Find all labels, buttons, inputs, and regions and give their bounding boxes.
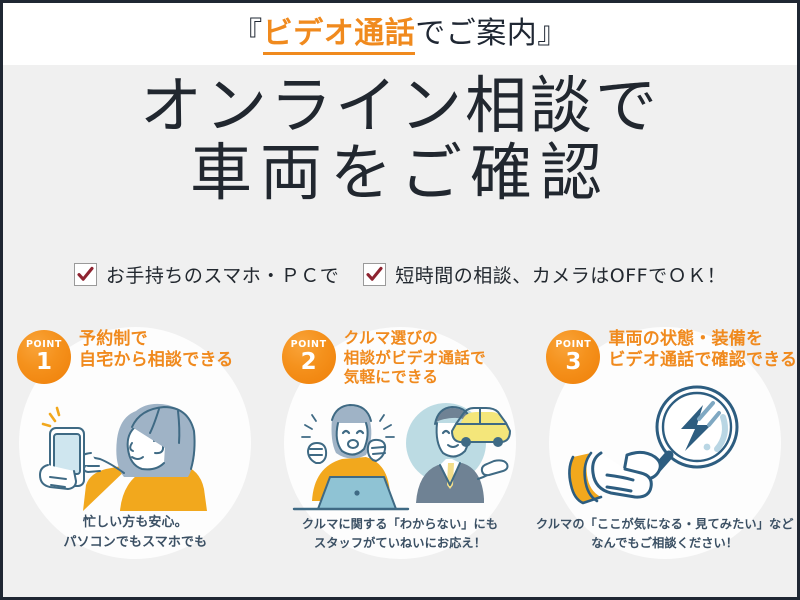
point-caption-1-line-1: 忙しい方も安心。 <box>3 513 268 533</box>
point-badge-2: POINT 2 <box>282 330 336 384</box>
point-title-3: 車両の状態・装備を ビデオ通話で確認できる <box>608 329 797 372</box>
header-plain-text: でご案内 <box>415 16 537 51</box>
woman-with-smartphone-illustration <box>3 381 268 511</box>
headline-line-2: 車両をご確認 <box>3 140 797 207</box>
header-highlight-text: ビデオ通話 <box>263 16 416 55</box>
point-caption-3: クルマの「ここが気になる・見てみたい」など なんでもご相談ください！ <box>532 515 797 552</box>
point-caption-2-line-1: クルマに関する「わからない」にも <box>268 515 533 533</box>
point-header-2: POINT 2 クルマ選びの 相談がビデオ通話で 気軽にできる <box>268 329 533 388</box>
point-title-2-line-3: 気軽にできる <box>344 368 486 388</box>
point-card-2: POINT 2 クルマ選びの 相談がビデオ通話で 気軽にできる <box>268 321 533 600</box>
checkmark-icon <box>363 263 386 286</box>
woman-laptop-and-staff-with-car-illustration <box>268 393 533 511</box>
header-title: 『ビデオ通話でご案内』 <box>232 19 568 49</box>
bracket-close: 』 <box>537 16 568 51</box>
check-item-2: 短時間の相談、カメラはOFFでＯＫ！ <box>363 261 726 288</box>
headline-line-1: オンライン相談で <box>3 73 797 140</box>
main-headline: オンライン相談で 車両をご確認 <box>3 73 797 207</box>
feature-check-row: お手持ちのスマホ・ＰＣで 短時間の相談、カメラはOFFでＯＫ！ <box>3 261 797 288</box>
point-title-1: 予約制で 自宅から相談できる <box>79 329 233 372</box>
point-caption-1-line-2: パソコンでもスマホでも <box>3 533 268 553</box>
point-caption-2-line-2: スタッフがていねいにお応え！ <box>268 534 533 552</box>
check-label-2: 短時間の相談、カメラはOFFでＯＫ！ <box>395 261 726 288</box>
point-badge-3: POINT 3 <box>546 330 600 384</box>
point-title-1-line-1: 予約制で <box>79 329 233 350</box>
point-card-3: POINT 3 車両の状態・装備を ビデオ通話で確認できる <box>532 321 797 600</box>
point-card-1: POINT 1 予約制で 自宅から相談できる <box>3 321 268 600</box>
point-title-1-line-2: 自宅から相談できる <box>79 350 233 371</box>
point-title-3-line-1: 車両の状態・装備を <box>608 329 797 350</box>
promotional-banner: 『ビデオ通話でご案内』 オンライン相談で 車両をご確認 お手持ちのスマホ・ＰＣで… <box>0 0 800 600</box>
point-title-2: クルマ選びの 相談がビデオ通話で 気軽にできる <box>344 329 486 388</box>
point-caption-3-line-1: クルマの「ここが気になる・見てみたい」など <box>532 515 797 533</box>
point-caption-3-line-2: なんでもご相談ください！ <box>532 534 797 552</box>
point-caption-2: クルマに関する「わからない」にも スタッフがていねいにお応え！ <box>268 515 533 552</box>
point-title-2-line-2: 相談がビデオ通話で <box>344 349 486 369</box>
point-caption-1: 忙しい方も安心。 パソコンでもスマホでも <box>3 513 268 552</box>
checkmark-icon <box>74 263 97 286</box>
header-band: 『ビデオ通話でご案内』 <box>3 3 797 65</box>
check-item-1: お手持ちのスマホ・ＰＣで <box>74 261 339 288</box>
point-header-3: POINT 3 車両の状態・装備を ビデオ通話で確認できる <box>532 329 797 384</box>
point-badge-1: POINT 1 <box>17 330 71 384</box>
check-label-1: お手持ちのスマホ・ＰＣで <box>106 261 339 288</box>
hand-holding-magnifying-glass-illustration <box>532 383 797 511</box>
points-section: POINT 1 予約制で 自宅から相談できる <box>3 321 797 600</box>
point-badge-number-1: 1 <box>36 351 52 374</box>
point-badge-number-2: 2 <box>301 351 317 374</box>
point-badge-number-3: 3 <box>565 351 581 374</box>
point-title-2-line-1: クルマ選びの <box>344 329 486 349</box>
point-title-3-line-2: ビデオ通話で確認できる <box>608 350 797 371</box>
point-header-1: POINT 1 予約制で 自宅から相談できる <box>3 329 268 384</box>
bracket-open: 『 <box>232 16 263 51</box>
